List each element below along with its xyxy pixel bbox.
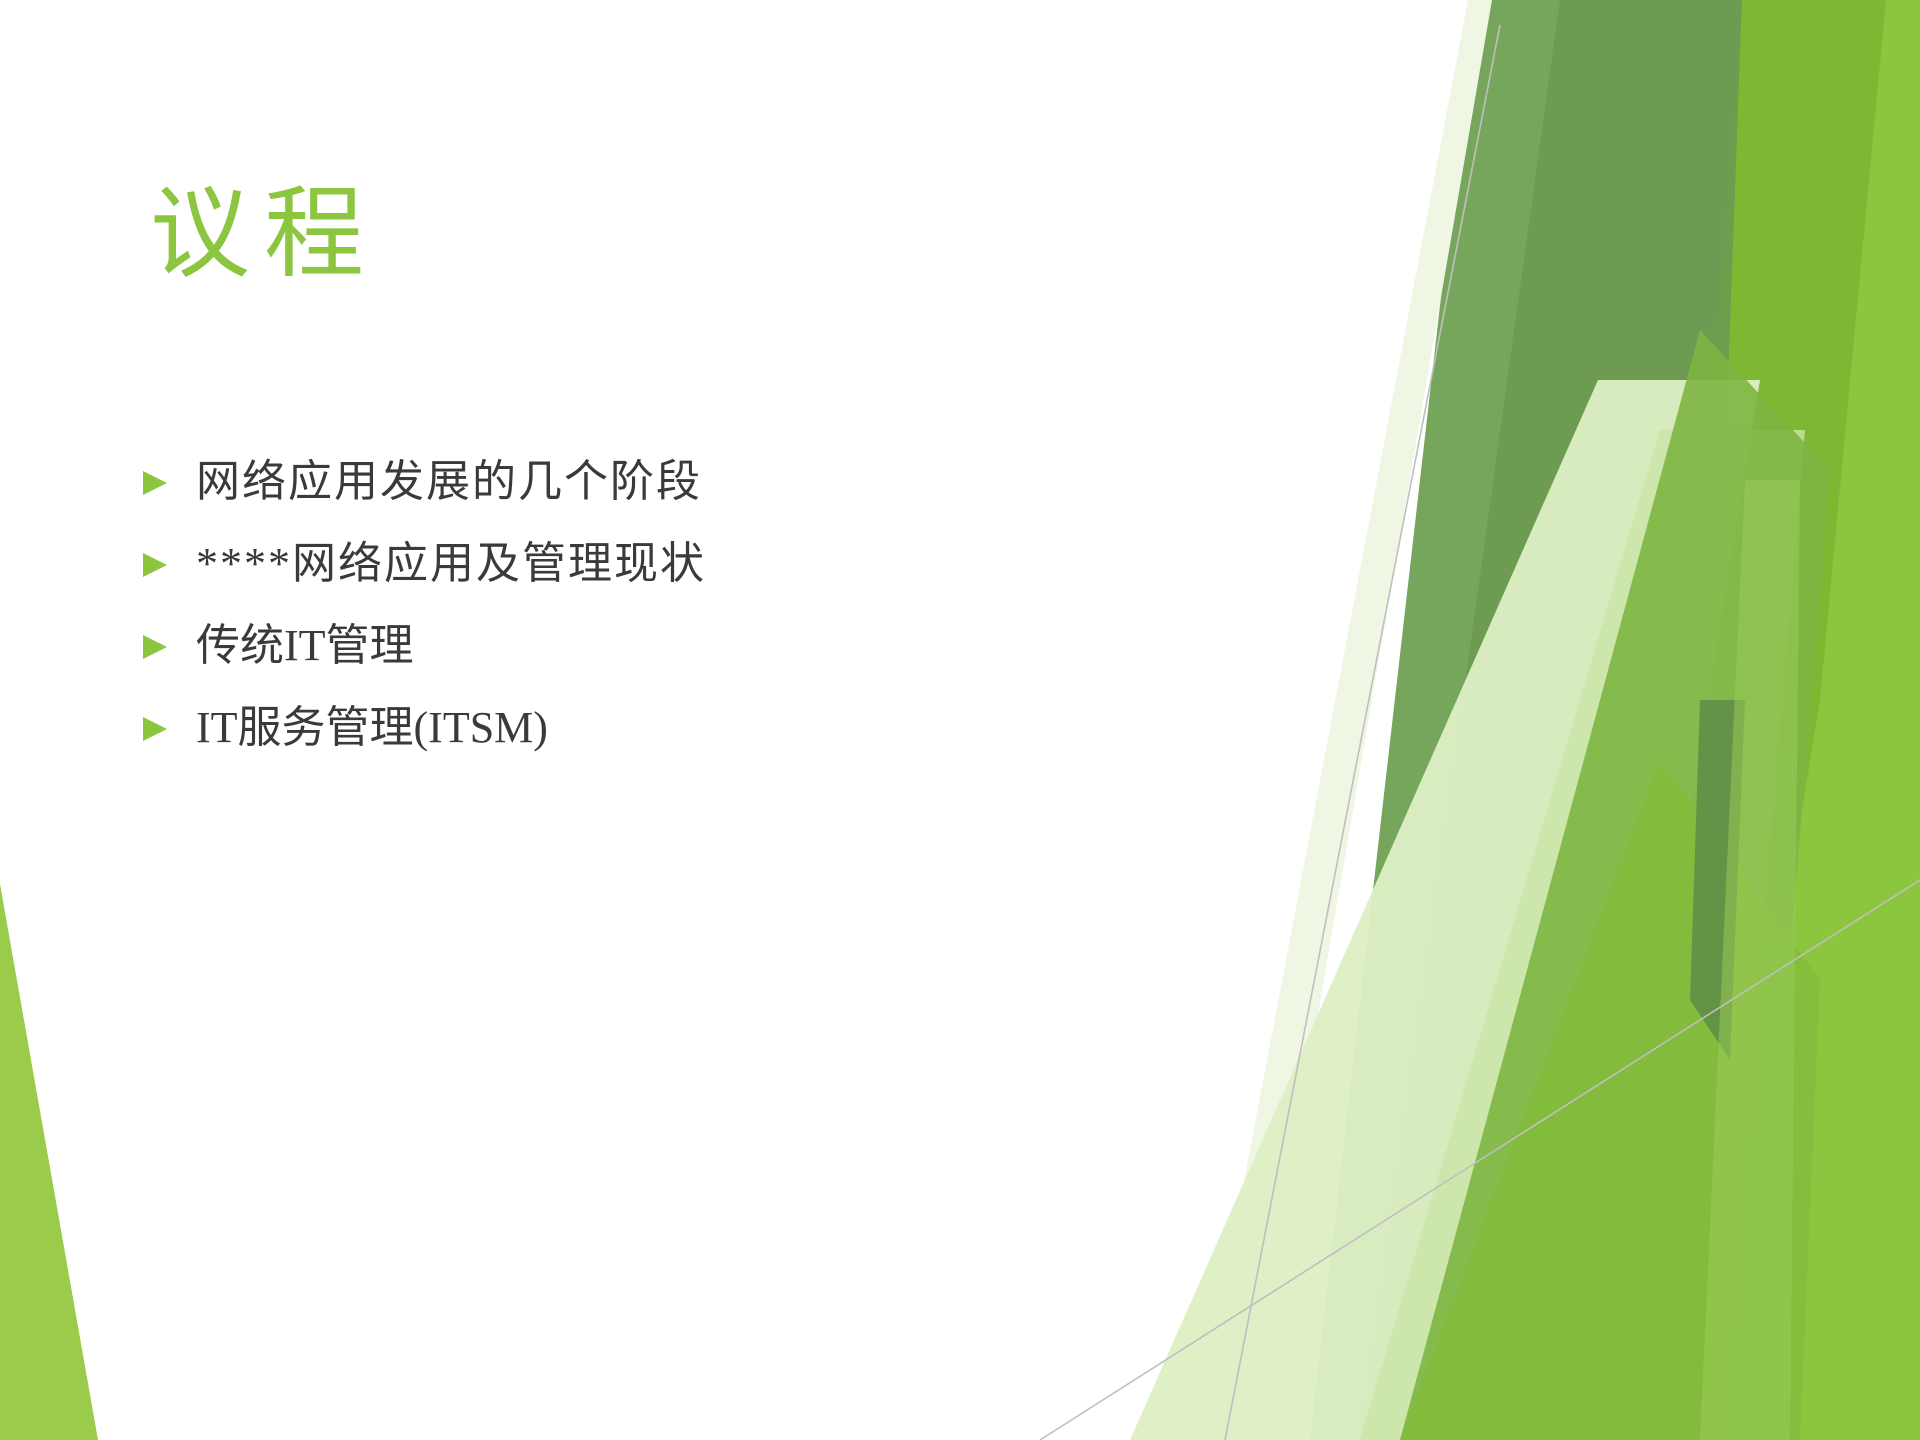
triangle-right-icon bbox=[140, 550, 170, 580]
triangle-right-icon bbox=[140, 632, 170, 662]
agenda-item-label: ****网络应用及管理现状 bbox=[196, 537, 1290, 591]
agenda-list: 网络应用发展的几个阶段 ****网络应用及管理现状 传统IT管理 bbox=[140, 455, 1290, 783]
slide-content: 议程 网络应用发展的几个阶段 ****网络应用及管理现状 bbox=[0, 0, 1920, 1440]
triangle-right-icon bbox=[140, 714, 170, 744]
agenda-item-2[interactable]: ****网络应用及管理现状 bbox=[140, 537, 1290, 619]
agenda-item-label: 传统IT管理 bbox=[196, 619, 1290, 673]
slide-title: 议程 bbox=[150, 175, 378, 295]
presentation-slide: 议程 网络应用发展的几个阶段 ****网络应用及管理现状 bbox=[0, 0, 1920, 1440]
agenda-item-4[interactable]: IT服务管理(ITSM) bbox=[140, 701, 1290, 783]
triangle-right-icon bbox=[140, 468, 170, 498]
agenda-item-label: IT服务管理(ITSM) bbox=[196, 701, 1290, 755]
agenda-item-label: 网络应用发展的几个阶段 bbox=[196, 455, 1290, 509]
agenda-item-1[interactable]: 网络应用发展的几个阶段 bbox=[140, 455, 1290, 537]
agenda-item-3[interactable]: 传统IT管理 bbox=[140, 619, 1290, 701]
